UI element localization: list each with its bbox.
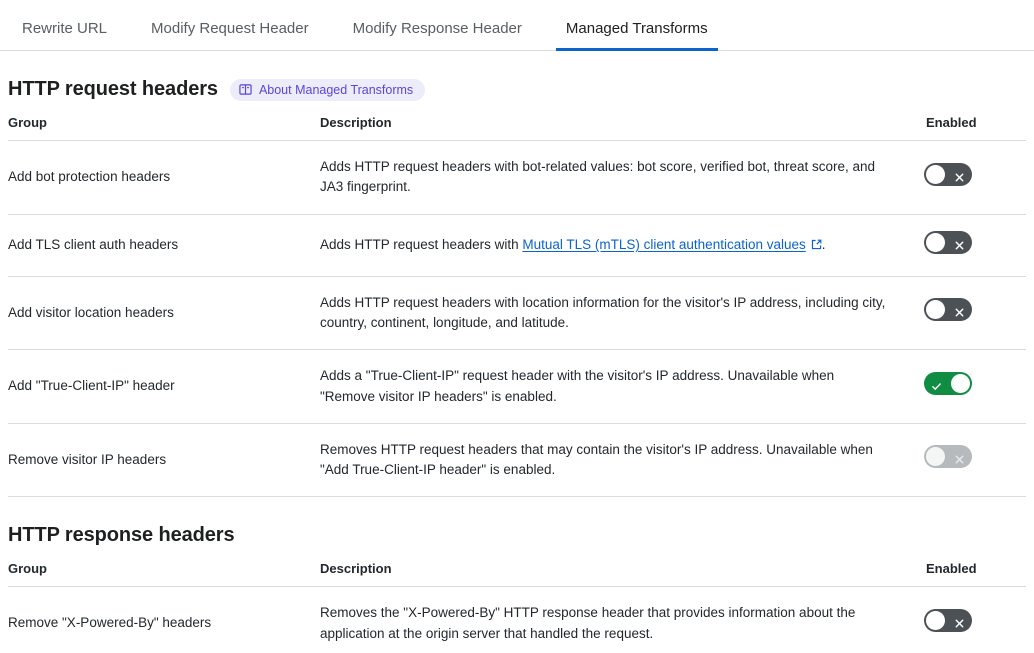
tab-modify-response-header[interactable]: Modify Response Header: [331, 21, 544, 50]
request-section-header: HTTP request headers About Managed Trans…: [8, 78, 1026, 101]
column-header-group: Group: [8, 561, 320, 587]
close-icon: [954, 237, 965, 248]
table-row: Add visitor location headers Adds HTTP r…: [8, 276, 1026, 350]
request-headers-table: Group Description Enabled Add bot protec…: [8, 115, 1026, 497]
check-icon: [931, 378, 942, 389]
table-row: Add bot protection headers Adds HTTP req…: [8, 141, 1026, 215]
close-icon: [954, 615, 965, 626]
toggle-add-visitor-location-headers[interactable]: [924, 298, 972, 321]
row-description-text: Removes the "X-Powered-By" HTTP response…: [320, 605, 855, 640]
request-section-title: HTTP request headers: [8, 78, 218, 101]
row-description: Adds a "True-Client-IP" request header w…: [320, 350, 924, 424]
table-row: Add TLS client auth headers Adds HTTP re…: [8, 214, 1026, 276]
row-enabled-cell: [924, 214, 1026, 276]
table-header-row: Group Description Enabled: [8, 115, 1026, 141]
tab-modify-request-header[interactable]: Modify Request Header: [129, 21, 331, 50]
response-section-title: HTTP response headers: [8, 524, 235, 547]
close-icon: [954, 169, 965, 180]
row-description: Adds HTTP request headers with bot-relat…: [320, 141, 924, 215]
tab-rewrite-url[interactable]: Rewrite URL: [0, 21, 129, 50]
toggle-add-true-client-ip-header[interactable]: [924, 372, 972, 395]
content-area: HTTP request headers About Managed Trans…: [0, 78, 1034, 653]
column-header-group: Group: [8, 115, 320, 141]
column-header-enabled: Enabled: [924, 561, 1026, 587]
mtls-docs-link-label: Mutual TLS (mTLS) client authentication …: [522, 237, 805, 252]
toggle-add-tls-client-auth-headers[interactable]: [924, 231, 972, 254]
toggle-knob: [926, 165, 945, 184]
row-group-name: Remove visitor IP headers: [8, 423, 320, 497]
mtls-docs-link[interactable]: Mutual TLS (mTLS) client authentication …: [522, 237, 805, 252]
toggle-knob: [926, 447, 945, 466]
row-group-name: Add visitor location headers: [8, 276, 320, 350]
row-description-text: Adds HTTP request headers with: [320, 237, 522, 252]
row-group-name: Add TLS client auth headers: [8, 214, 320, 276]
row-description-text: Adds HTTP request headers with bot-relat…: [320, 159, 875, 194]
toggle-add-bot-protection-headers[interactable]: [924, 163, 972, 186]
row-enabled-cell: [924, 276, 1026, 350]
row-description-text: Adds HTTP request headers with location …: [320, 295, 885, 330]
about-managed-transforms-badge[interactable]: About Managed Transforms: [230, 79, 425, 101]
row-enabled-cell: [924, 350, 1026, 424]
about-managed-transforms-label: About Managed Transforms: [259, 83, 413, 97]
tab-bar: Rewrite URL Modify Request Header Modify…: [0, 0, 1034, 51]
tab-managed-transforms[interactable]: Managed Transforms: [544, 21, 730, 50]
table-header-row: Group Description Enabled: [8, 561, 1026, 587]
book-icon: [239, 83, 252, 96]
toggle-remove-visitor-ip-headers: [924, 445, 972, 468]
row-group-name: Add bot protection headers: [8, 141, 320, 215]
toggle-knob: [926, 233, 945, 252]
column-header-description: Description: [320, 561, 924, 587]
external-link-icon: [811, 236, 822, 247]
row-group-name: Add "True-Client-IP" header: [8, 350, 320, 424]
row-group-name: Remove "X-Powered-By" headers: [8, 587, 320, 653]
row-enabled-cell: [924, 423, 1026, 497]
close-icon: [954, 304, 965, 315]
column-header-enabled: Enabled: [924, 115, 1026, 141]
row-description-text: Adds a "True-Client-IP" request header w…: [320, 368, 834, 403]
row-enabled-cell: [924, 141, 1026, 215]
toggle-knob: [926, 611, 945, 630]
response-section-header: HTTP response headers: [8, 524, 1026, 547]
table-row: Add "True-Client-IP" header Adds a "True…: [8, 350, 1026, 424]
row-description: Adds HTTP request headers with location …: [320, 276, 924, 350]
row-enabled-cell: [924, 587, 1026, 653]
column-header-description: Description: [320, 115, 924, 141]
close-icon: [954, 451, 965, 462]
row-description: Removes the "X-Powered-By" HTTP response…: [320, 587, 924, 653]
table-row: Remove visitor IP headers Removes HTTP r…: [8, 423, 1026, 497]
table-row: Remove "X-Powered-By" headers Removes th…: [8, 587, 1026, 653]
row-description: Removes HTTP request headers that may co…: [320, 423, 924, 497]
toggle-knob: [926, 300, 945, 319]
row-description-text: Removes HTTP request headers that may co…: [320, 442, 873, 477]
row-description-tail: .: [822, 237, 826, 252]
toggle-knob: [951, 374, 970, 393]
row-description: Adds HTTP request headers with Mutual TL…: [320, 214, 924, 276]
toggle-remove-x-powered-by-headers[interactable]: [924, 609, 972, 632]
response-headers-table: Group Description Enabled Remove "X-Powe…: [8, 561, 1026, 653]
